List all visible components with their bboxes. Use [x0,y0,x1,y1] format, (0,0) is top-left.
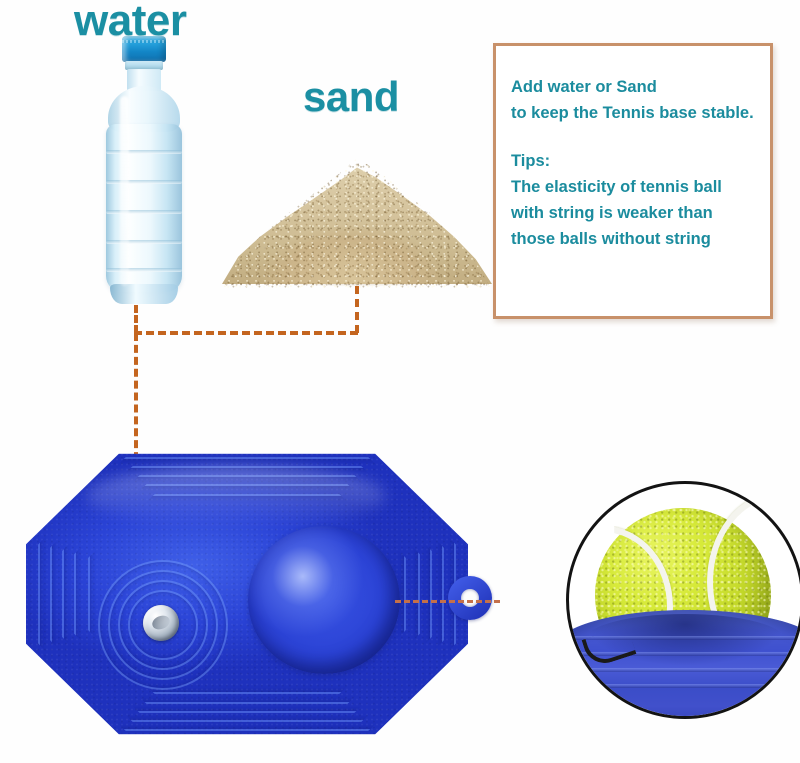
water-bottle [96,36,192,304]
tips-line-2: with string is weaker than [511,200,762,226]
bottle-cap [122,36,166,62]
tennis-trainer-base [26,448,468,740]
inset-base-body [566,610,800,719]
tips-text-content: Add water or Sand to keep the Tennis bas… [511,74,762,252]
connector-eyelet-to-inset [395,600,500,603]
tips-text-box: Add water or Sand to keep the Tennis bas… [493,43,773,319]
tips-line-3: those balls without string [511,226,762,252]
inset-circle-frame [566,481,800,719]
bottle-rib [106,268,182,272]
base-string-eyelet [448,576,492,620]
tip-line-1: Add water or Sand [511,74,762,100]
bottle-highlight [120,96,129,286]
tips-heading: Tips: [511,148,762,174]
bottle-rib [106,240,182,244]
base-center-dome [248,526,400,674]
label-sand: sand [303,73,399,121]
tip-spacer [511,126,762,148]
sand-pile [222,150,492,290]
connector-sand-vertical [355,286,359,333]
bottle-rib [106,210,182,214]
fill-port-screw-cap[interactable] [143,605,179,641]
tennis-ball-detail-inset [566,481,800,719]
connector-horizontal [134,331,358,335]
eyelet-hole [461,589,479,607]
tips-line-1: The elasticity of tennis ball [511,174,762,200]
inset-base-ridge [566,684,800,688]
bottle-rib [106,150,182,154]
tip-line-2: to keep the Tennis base stable. [511,100,762,126]
base-fill-port [98,560,224,686]
infographic-canvas: water sand Add water or Sand to keep the… [0,0,800,763]
connector-bottle-vertical [134,305,138,333]
bottle-base [110,284,178,304]
inset-base-ridge [566,668,800,672]
bottle-rib [106,180,182,184]
bottle-body [106,124,182,292]
sand-grain-texture [222,150,492,290]
